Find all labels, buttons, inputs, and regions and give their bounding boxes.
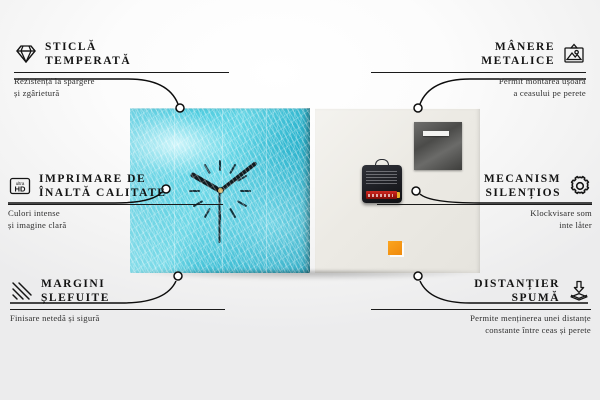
- clock-minute-hand: [219, 161, 258, 192]
- callout-subtitle-line1: Klockvisare som: [377, 208, 592, 220]
- callout-header: STICLĂ TEMPERATĂ: [14, 40, 229, 69]
- callout-title: MECANISM SILENȚIOS: [484, 172, 561, 201]
- callout-mecanism-silentios[interactable]: MECANISM SILENȚIOS Klockvisare som inte …: [377, 172, 592, 231]
- foam-spacer: [388, 241, 402, 255]
- callout-title: IMPRIMARE DE ÎNALTĂ CALITATE: [39, 172, 166, 201]
- picture-frame-hanger-icon: [562, 42, 586, 66]
- callout-title-line2: METALICE: [481, 54, 555, 68]
- callout-manere-metalice[interactable]: MÂNERE METALICE Permit montarea ușoară a…: [371, 40, 586, 99]
- svg-text:HD: HD: [15, 185, 26, 194]
- glass-seam: [266, 108, 267, 273]
- ultra-hd-badge-icon: ultra HD: [8, 174, 32, 198]
- callout-subtitle-line1: Finisare netedă și sigură: [10, 313, 225, 325]
- callout-title-line2: ÎNALTĂ CALITATE: [39, 186, 166, 200]
- metal-hanger-plate: [414, 122, 462, 170]
- infographic-canvas: STICLĂ TEMPERATĂ Rezistență la spargere …: [0, 0, 600, 400]
- callout-title: STICLĂ TEMPERATĂ: [45, 40, 131, 69]
- callout-rule: [8, 204, 223, 205]
- callout-title-line1: IMPRIMARE DE: [39, 172, 166, 186]
- callout-subtitle: Permite menținerea unei distanțe constan…: [371, 313, 591, 336]
- callout-subtitle: Culori intense și imagine clară: [8, 208, 223, 231]
- mechanism-hanging-loop: [375, 159, 389, 168]
- hanger-slot: [423, 131, 449, 136]
- callout-title-line1: MÂNERE: [481, 40, 555, 54]
- callout-header: MÂNERE METALICE: [371, 40, 586, 69]
- callout-title: MÂNERE METALICE: [481, 40, 555, 69]
- arrow-down-layers-icon: [567, 279, 591, 303]
- callout-subtitle-line1: Permit montarea ușoară: [371, 76, 586, 88]
- callout-subtitle-line2: a ceasului pe perete: [371, 88, 586, 100]
- callout-title-line2: SILENȚIOS: [484, 186, 561, 200]
- callout-subtitle-line2: și imagine clară: [8, 220, 223, 232]
- callout-subtitle-line1: Culori intense: [8, 208, 223, 220]
- callout-imprimare-hd[interactable]: ultra HD IMPRIMARE DE ÎNALTĂ CALITATE Cu…: [8, 172, 223, 231]
- callout-subtitle: Klockvisare som inte låter: [377, 208, 592, 231]
- callout-title-line1: MECANISM: [484, 172, 561, 186]
- callout-rule: [377, 204, 592, 205]
- callout-header: MARGINI ȘLEFUITE: [10, 277, 225, 306]
- callout-title-line1: MARGINI: [41, 277, 110, 291]
- callout-header: DISTANȚIER SPUMĂ: [371, 277, 591, 306]
- callout-title-line1: DISTANȚIER: [474, 277, 560, 291]
- callout-rule: [371, 309, 591, 310]
- callout-header: ultra HD IMPRIMARE DE ÎNALTĂ CALITATE: [8, 172, 223, 201]
- callout-rule: [371, 72, 586, 73]
- callout-margini-slefuite[interactable]: MARGINI ȘLEFUITE Finisare netedă și sigu…: [10, 277, 225, 325]
- callout-title-line1: STICLĂ: [45, 40, 131, 54]
- callout-rule: [10, 309, 225, 310]
- callout-rule: [14, 72, 229, 73]
- callout-title-line2: ȘLEFUITE: [41, 291, 110, 305]
- callout-sticla-temperata[interactable]: STICLĂ TEMPERATĂ Rezistență la spargere …: [14, 40, 229, 99]
- callout-subtitle-line1: Rezistență la spargere: [14, 76, 229, 88]
- callout-header: MECANISM SILENȚIOS: [377, 172, 592, 201]
- callout-subtitle-line1: Permite menținerea unei distanțe: [371, 313, 591, 325]
- callout-subtitle-line2: constante între ceas și perete: [371, 325, 591, 337]
- callout-title-line2: SPUMĂ: [474, 291, 560, 305]
- diagonal-lines-icon: [10, 279, 34, 303]
- callout-distantier-spuma[interactable]: DISTANȚIER SPUMĂ Permite menținerea unei…: [371, 277, 591, 336]
- callout-subtitle-line2: inte låter: [377, 220, 592, 232]
- callout-subtitle: Rezistență la spargere și zgârietură: [14, 76, 229, 99]
- callout-title-line2: TEMPERATĂ: [45, 54, 131, 68]
- diamond-icon: [14, 42, 38, 66]
- callout-title: DISTANȚIER SPUMĂ: [474, 277, 560, 306]
- callout-subtitle: Permit montarea ușoară a ceasului pe per…: [371, 76, 586, 99]
- callout-title: MARGINI ȘLEFUITE: [41, 277, 110, 306]
- gear-icon: [568, 174, 592, 198]
- callout-subtitle-line2: și zgârietură: [14, 88, 229, 100]
- callout-subtitle: Finisare netedă și sigură: [10, 313, 225, 325]
